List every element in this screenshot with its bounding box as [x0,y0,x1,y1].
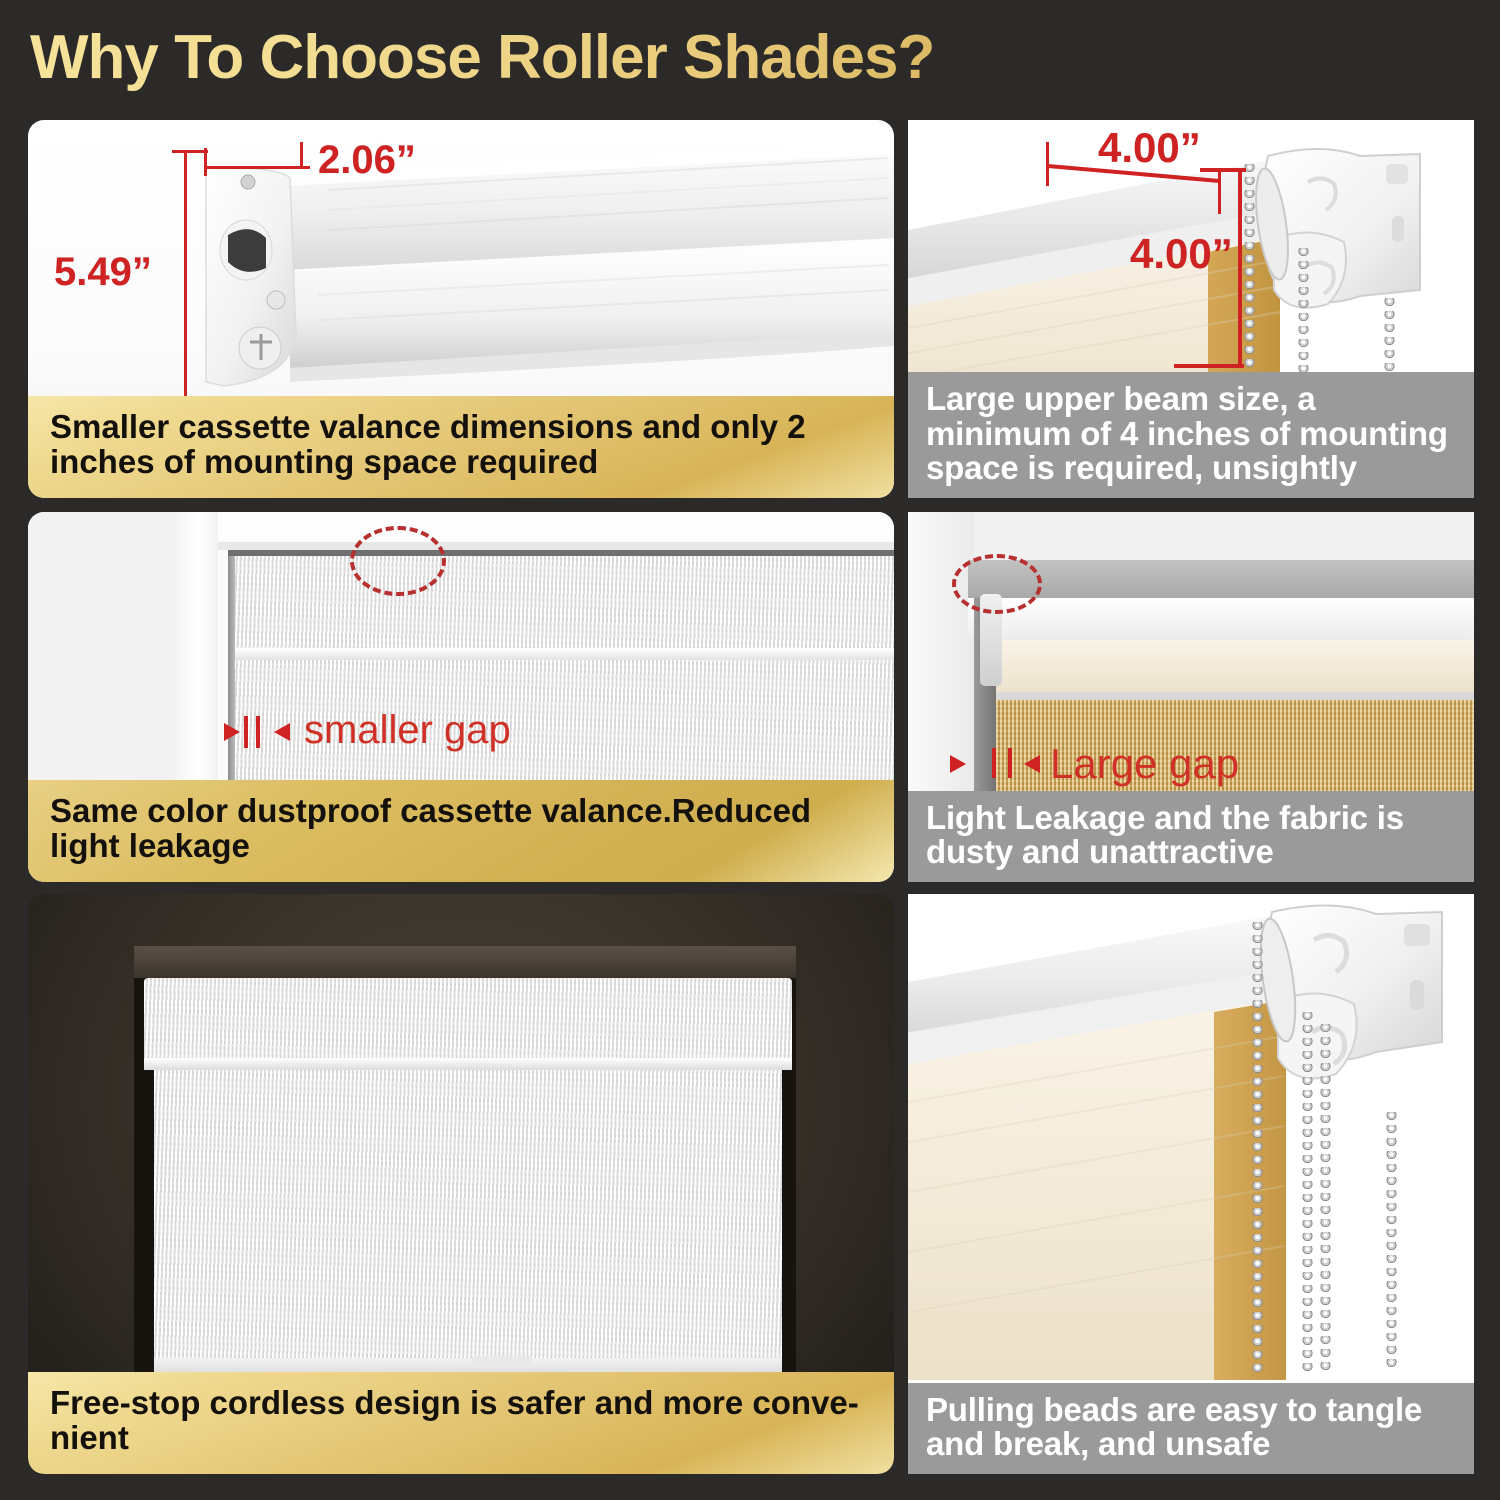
height-dim-top-tick [172,150,208,153]
beam-width-label: 4.00” [1098,124,1201,172]
panel-pro-cassette-dimensions: 2.06” 5.49” Smaller cassette valance dim… [28,120,894,498]
panel-con-pulling-beads: Pulling beads are easy to tangle and bre… [908,894,1474,1474]
shade-brand-tab [472,1356,532,1368]
gap-arrow-right [1024,755,1040,773]
gap-highlight-circle [350,526,446,596]
caption-line-1: Same color dustproof cassette valance.Re… [50,794,874,829]
caption-con-pulling-beads: Pulling beads are easy to tangle and bre… [908,1383,1474,1474]
caption-con-large-upper-beam: Large upper beam size, a minimum of 4 in… [908,372,1474,498]
window-shade-valance [144,978,792,1062]
caption-line-2: inches of mounting space required [50,445,874,480]
caption-pro-cassette-dimensions: Smaller cassette valance dimensions and … [28,396,894,498]
beam-height-label: 4.00” [1130,230,1233,278]
bead-chain-left [1252,922,1263,1372]
width-dimension-label: 2.06” [318,138,416,183]
infographic-page: Why To Choose Roller Shades? [0,0,1500,1500]
large-gap-label: Large gap [1050,740,1239,788]
gap-marker-b [256,716,260,748]
gap-highlight-circle [952,554,1042,614]
caption-line-1: Free-stop cordless design is safer and m… [50,1386,874,1421]
gap-arrow-left [224,723,240,741]
beam-top-face [968,560,1474,598]
gap-arrow-right [274,723,290,741]
gap-marker-a [992,748,996,778]
panel-con-large-gap: Large gap Light Leakage and the fabric i… [908,512,1474,882]
valance-top-edge [228,550,894,556]
panel-pro-cordless-design: Free-stop cordless design is safer and m… [28,894,894,1474]
caption-line-3: space is required, unsightly [926,451,1458,486]
page-title: Why To Choose Roller Shades? [30,18,1330,98]
width-dim-right-tick [300,142,303,168]
panel-con-large-upper-beam: 4.00” 4.00” Large upper beam size, a min… [908,120,1474,498]
cream-fabric-strip [974,640,1474,692]
cassette-valance-face [234,552,894,648]
valance-seam [234,648,894,660]
caption-line-2: dusty and unattractive [926,835,1458,870]
bead-chain-right [1386,1112,1397,1372]
height-dim-line [184,150,187,400]
caption-line-1: Large upper beam size, a [926,382,1458,417]
beam-height-top-tick [1200,168,1246,172]
caption-pro-cordless-design: Free-stop cordless design is safer and m… [28,1372,894,1474]
caption-con-large-gap: Light Leakage and the fabric is dusty an… [908,791,1474,882]
bead-chain-middle-b [1320,1024,1331,1372]
light-gap-strip [228,556,235,802]
height-dimension-label: 5.49” [54,250,152,295]
caption-line-2: light leakage [50,829,874,864]
gap-marker-a [244,716,248,748]
caption-line-1: Light Leakage and the fabric is [926,801,1458,836]
bead-chain-middle-a [1302,1012,1313,1372]
caption-line-2: nient [50,1421,874,1456]
beam-width-right-tick [1218,170,1221,214]
caption-pro-smaller-gap: Same color dustproof cassette valance.Re… [28,780,894,882]
caption-line-1: Smaller cassette valance dimensions and … [50,410,874,445]
beam-height-bottom-tick [1174,364,1244,368]
window-head-trim [134,946,796,978]
caption-line-2: minimum of 4 inches of mounting [926,417,1458,452]
caption-line-1: Pulling beads are easy to tangle [926,1393,1458,1428]
panel-pro-smaller-gap: smaller gap Same color dustproof cassett… [28,512,894,882]
fabric-edge-line [974,692,1474,700]
width-dim-line [206,166,310,169]
window-shade-fabric [154,1070,782,1370]
beam-front-face [968,598,1474,642]
caption-line-2: and break, and unsafe [926,1427,1458,1462]
beam-height-line [1238,168,1242,368]
valance-bottom-lip [144,1058,792,1070]
gap-arrow-left [950,755,966,773]
gap-marker-b [1008,748,1012,778]
smaller-gap-label: smaller gap [304,708,511,753]
